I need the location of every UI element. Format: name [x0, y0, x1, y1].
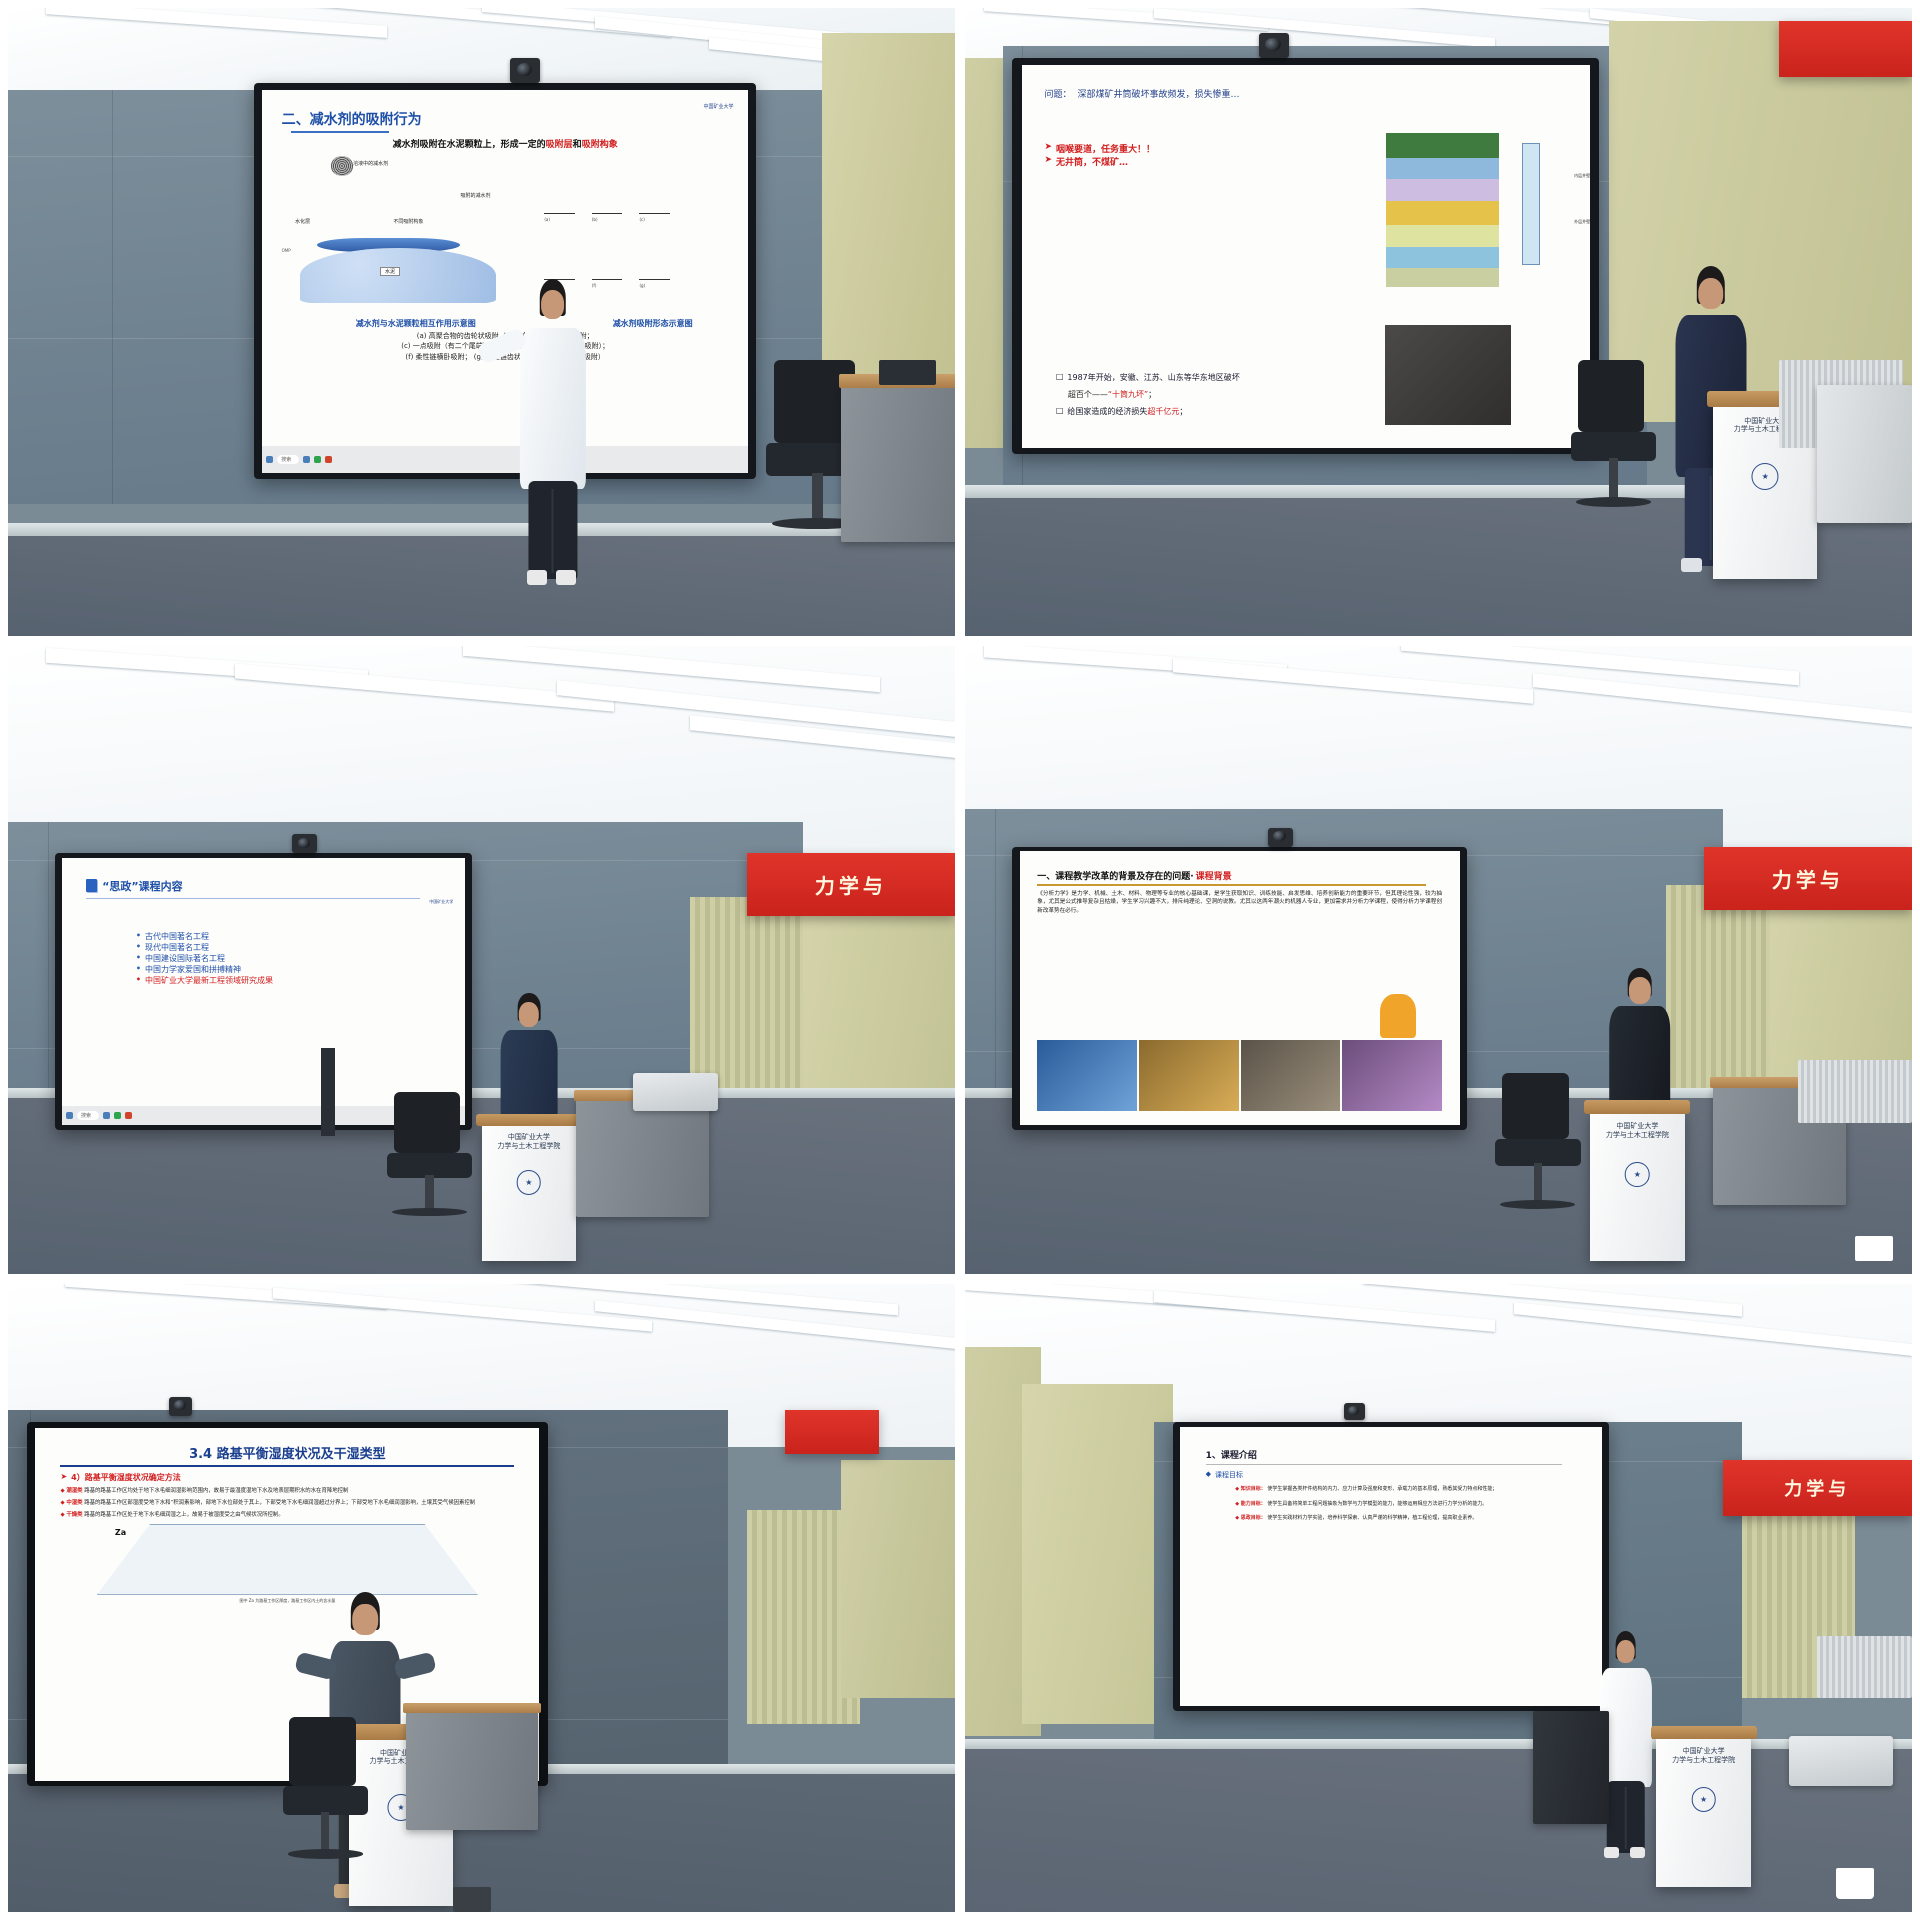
torso: [519, 328, 585, 490]
start-icon[interactable]: [66, 1112, 73, 1119]
red-banner: 力学与: [1723, 1460, 1912, 1517]
camera-icon: [1259, 33, 1289, 58]
beige-wall: [841, 1460, 955, 1699]
display-screen: “思政”课程内容 中国矿业大学 • 古代中国著名工程 • 现代中国著名工程: [62, 858, 465, 1126]
wall-display-6[interactable]: 1、课程介绍 ◆ 课程目标 ◆ 知识目标： 使学生掌握各类杆件结构的内力、应力计…: [1173, 1422, 1609, 1711]
red-banner: [1779, 21, 1912, 78]
shoe: [1630, 1847, 1646, 1858]
camera-icon: [1344, 1403, 1365, 1419]
list-item: ◆ 能力目标： 使学生具备将简单工程问题抽象为数学与力学模型的能力，能够运用相应…: [1235, 1501, 1576, 1509]
microphone-stand: [321, 1048, 335, 1136]
university-logo: 中国矿业大学: [429, 900, 453, 904]
legs: [528, 481, 577, 579]
photo-5: 3.4 路基平衡湿度状况及干湿类型 ➤ 4）路基平衡湿度状况确定方法 ◆ 潮湿类…: [8, 1284, 955, 1912]
lectern: 中国矿业大学力学与土木工程学院 ★: [482, 1123, 577, 1261]
taskbar-icon[interactable]: [114, 1112, 121, 1119]
square-bullet: □ 1987年开始，安徽、江苏、山东等华东地区破坏: [1056, 372, 1352, 383]
bullet-dot: •: [136, 953, 141, 962]
legs: [1606, 1781, 1645, 1854]
display-screen: 1、课程介绍 ◆ 课程目标 ◆ 知识目标： 使学生掌握各类杆件结构的内力、应力计…: [1180, 1427, 1602, 1707]
university-emblem: ★: [1625, 1162, 1650, 1187]
arrow-icon: ➤: [60, 1472, 67, 1481]
mascot-icon: [1380, 994, 1415, 1038]
office-chair: [283, 1717, 368, 1874]
label-outer-wall: 外层井壁: [1574, 219, 1590, 225]
red-banner: [785, 1410, 880, 1454]
paper-cup: [1855, 1236, 1893, 1261]
university-emblem: ★: [1752, 463, 1779, 490]
diagram-label: Za: [115, 1528, 126, 1537]
university-emblem: ★: [517, 1170, 542, 1195]
thumbnail: [1342, 1040, 1442, 1111]
diamond-icon: ◆: [1235, 1515, 1239, 1521]
equipment-cabinet: [1533, 1711, 1609, 1824]
display-screen: 二、减水剂的吸附行为 中国矿业大学 减水剂吸附在水泥颗粒上，形成一定的吸附层和吸…: [262, 90, 748, 473]
slide-paragraph: 《分析力学》是力学、机械、土木、材料、物理等专业的核心基础课，是学生获取知识、训…: [1037, 890, 1442, 916]
lectern: 中国矿业大学力学与土木工程学院 ★: [1590, 1111, 1685, 1262]
list-item: • 古代中国著名工程: [136, 931, 441, 942]
baseboard: [965, 1739, 1912, 1749]
office-chair: [387, 1092, 472, 1230]
slide-6: 1、课程介绍 ◆ 课程目标 ◆ 知识目标： 使学生掌握各类杆件结构的内力、应力计…: [1180, 1427, 1602, 1707]
presenter: [519, 284, 585, 573]
slide-title: 3.4 路基平衡湿度状况及干湿类型: [60, 1443, 514, 1462]
bullet-dot: •: [136, 942, 141, 951]
diamond-icon: ◆: [60, 1512, 64, 1518]
head: [1629, 977, 1651, 1004]
head: [541, 290, 565, 319]
equipment-cabinet: [576, 1098, 709, 1217]
wall-display-1[interactable]: 二、减水剂的吸附行为 中国矿业大学 减水剂吸附在水泥颗粒上，形成一定的吸附层和吸…: [254, 83, 756, 479]
wall-radiator: [1817, 1636, 1912, 1699]
camera-icon: [510, 58, 540, 83]
square-icon: □: [1056, 372, 1064, 381]
lectern: 中国矿业大学力学与土木工程学院 ★: [1656, 1736, 1751, 1887]
equipment-cabinet: [841, 385, 955, 542]
microphone-stand: [879, 360, 936, 385]
photo-collage: 二、减水剂的吸附行为 中国矿业大学 减水剂吸附在水泥颗粒上，形成一定的吸附层和吸…: [0, 0, 1920, 1920]
projector: [633, 1073, 718, 1111]
slide-subtitle: ◆ 课程目标: [1206, 1470, 1577, 1480]
slide-title: 1、课程介绍: [1206, 1448, 1577, 1461]
bullet-dot: •: [136, 975, 141, 984]
section-heading: ➤ 4）路基平衡湿度状况确定方法: [60, 1472, 514, 1483]
head: [353, 1604, 379, 1635]
red-banner: 力学与: [1704, 847, 1912, 910]
lectern-label: 中国矿业大学力学与土木工程学院: [1606, 1123, 1669, 1141]
taskbar-icon[interactable]: [125, 1112, 132, 1119]
projector: [1789, 1736, 1893, 1786]
label-hydration: 水化层: [295, 218, 310, 225]
list-item: • 中国力学家爱国和拼搏精神: [136, 964, 441, 975]
side-desk: [1817, 385, 1912, 523]
photo-3: “思政”课程内容 中国矿业大学 • 古代中国著名工程 • 现代中国著名工程: [8, 646, 955, 1274]
paper-cup: [1836, 1868, 1874, 1899]
list-item: • 中国建设国际著名工程: [136, 953, 441, 964]
roadbed-diagram: Za: [60, 1524, 514, 1595]
diamond-icon: ◆: [60, 1500, 64, 1506]
list-item: • 中国矿业大学最新工程领域研究成果: [136, 975, 441, 986]
slide-subtitle: 减水剂吸附在水泥颗粒上，形成一定的吸附层和吸附构象: [282, 137, 729, 150]
slide-title-highlight: 课程背景: [1196, 869, 1232, 882]
photo-6: 1、课程介绍 ◆ 课程目标 ◆ 知识目标： 使学生掌握各类杆件结构的内力、应力计…: [965, 1284, 1912, 1912]
square-icon: □: [1056, 406, 1064, 415]
beige-wall: [1022, 1384, 1174, 1723]
slide-4: 一、课程教学改革的背景及存在的问题· 课程背景 《分析力学》是力学、机械、土木、…: [1020, 851, 1460, 1125]
wall-radiator: [1798, 1060, 1912, 1123]
label-inner-wall: 内层井壁: [1574, 173, 1590, 179]
question-line: 问题： 深部煤矿井筒破坏事故频发，损失惨重…: [1044, 87, 1567, 100]
wall-display-2[interactable]: 问题： 深部煤矿井筒破坏事故频发，损失惨重… ➤ 咽喉要道，任务重大！！ ➤ 无…: [1012, 58, 1599, 454]
search-box[interactable]: 搜索: [77, 1111, 99, 1120]
taskbar-icon[interactable]: [303, 456, 310, 463]
shoe: [527, 570, 547, 584]
red-banner: 力学与: [747, 853, 955, 916]
thumbnail: [1241, 1040, 1341, 1111]
thumbnail: [1037, 1040, 1137, 1111]
diamond-icon: ◆: [1206, 1470, 1211, 1480]
office-chair: [1495, 1073, 1580, 1224]
lectern-label: 中国矿业大学力学与土木工程学院: [1672, 1748, 1735, 1766]
wall-display-3[interactable]: “思政”课程内容 中国矿业大学 • 古代中国著名工程 • 现代中国著名工程: [55, 853, 472, 1129]
list-item: ◆ 中湿类 路基的路基工作区部湿度受地下水和“积润素影响，部地下水位部处于其上，…: [60, 1499, 514, 1507]
damage-photo: [1385, 325, 1510, 425]
camera-icon: [292, 834, 317, 853]
wall-display-4[interactable]: 一、课程教学改革的背景及存在的问题· 课程背景 《分析力学》是力学、机械、土木、…: [1012, 847, 1467, 1130]
diamond-icon: ◆: [1235, 1486, 1239, 1492]
label-conformations: 不同吸附构象: [393, 218, 423, 225]
photo-1: 二、减水剂的吸附行为 中国矿业大学 减水剂吸附在水泥颗粒上，形成一定的吸附层和吸…: [8, 8, 955, 636]
slide-title: 一、课程教学改革的背景及存在的问题·: [1037, 869, 1193, 882]
camera-icon: [1268, 828, 1293, 847]
equipment-cabinet: [406, 1711, 539, 1830]
display-screen: 一、课程教学改革的背景及存在的问题· 课程背景 《分析力学》是力学、机械、土木、…: [1020, 851, 1460, 1125]
list-item: ◆ 知识目标： 使学生掌握各类杆件结构的内力、应力计算及强度和变形、承载力的基本…: [1235, 1486, 1576, 1494]
head: [1698, 278, 1724, 309]
diagram-caption: 图中 Za 为路基工作区厚度，路基工作区内土的含水量: [60, 1598, 514, 1604]
slide-title: 二、减水剂的吸附行为: [282, 109, 422, 129]
square-bullet-cont: 超百个——“十筒九坏”；: [1068, 389, 1352, 400]
photo-2: 问题： 深部煤矿井筒破坏事故频发，损失惨重… ➤ 咽喉要道，任务重大！！ ➤ 无…: [965, 8, 1912, 636]
photo-strip: [1037, 1040, 1442, 1111]
square-bullet: □ 给国家造成的经济损失超千亿元；: [1056, 406, 1352, 417]
head: [1616, 1640, 1635, 1663]
bag: [453, 1887, 491, 1912]
diamond-icon: ◆: [60, 1488, 64, 1494]
floor: [965, 1749, 1912, 1912]
arrow-icon: ➤: [1044, 155, 1052, 165]
thumbnail: [1139, 1040, 1239, 1111]
label-solution: 溶液中的减水剂: [353, 160, 388, 167]
start-icon[interactable]: [266, 456, 273, 463]
shoe: [1681, 558, 1702, 572]
photo-4: 一、课程教学改革的背景及存在的问题· 课程背景 《分析力学》是力学、机械、土木、…: [965, 646, 1912, 1274]
slide-2: 问题： 深部煤矿井筒破坏事故频发，损失惨重… ➤ 咽喉要道，任务重大！！ ➤ 无…: [1022, 65, 1590, 448]
label-cement: 水泥: [380, 267, 400, 276]
head: [519, 1002, 539, 1027]
display-screen: 问题： 深部煤矿井筒破坏事故频发，损失惨重… ➤ 咽喉要道，任务重大！！ ➤ 无…: [1022, 65, 1590, 448]
label-adsorbed: 吸附的减水剂: [460, 192, 490, 199]
caption-right: 减水剂吸附形态示意图: [577, 318, 729, 329]
caption-left: 减水剂与水泥颗粒相互作用示意图: [282, 318, 550, 329]
camera-icon: [169, 1397, 192, 1416]
list-item: • 现代中国著名工程: [136, 942, 441, 953]
arrow-icon: ➤: [1044, 142, 1052, 152]
adsorption-diagram: 溶液中的减水剂 吸附的减水剂 水化层 不同吸附构象 OMP 水泥 (a): [282, 153, 729, 316]
diamond-icon: ◆: [1235, 1501, 1239, 1507]
taskbar-icon[interactable]: [314, 456, 321, 463]
university-emblem: ★: [1691, 1787, 1716, 1812]
office-chair: [1571, 360, 1656, 523]
shoe: [556, 570, 576, 584]
taskbar-icon[interactable]: [103, 1112, 110, 1119]
slide-title: “思政”课程内容: [102, 878, 182, 894]
list-item: ◆ 干燥类 路基的路基工作区处于地下水毛细润湿之上，故易于被湿度受之由气候状况所…: [60, 1511, 514, 1519]
slide-1: 二、减水剂的吸附行为 中国矿业大学 减水剂吸附在水泥颗粒上，形成一定的吸附层和吸…: [262, 90, 748, 473]
taskbar-icon[interactable]: [325, 456, 332, 463]
shoe: [1604, 1847, 1620, 1858]
lectern-label: 中国矿业大学力学与土木工程学院: [497, 1134, 560, 1152]
list-item: ◆ 思政目标： 使学生实践材料力学实验，培养科学探索、认真严谨的科学精神，植工程…: [1235, 1515, 1576, 1523]
windows-taskbar[interactable]: 搜索: [262, 446, 748, 473]
shaft-stratigraphy-diagram: 内层井壁 外层井壁: [1386, 133, 1500, 286]
slide-3: “思政”课程内容 中国矿业大学 • 古代中国著名工程 • 现代中国著名工程: [62, 858, 465, 1126]
university-logo: 中国矿业大学: [704, 105, 734, 111]
list-item: ◆ 潮湿类 路基的路基工作区均处于地下水毛细润湿影响范围内，故易于最湿度湿地下水…: [60, 1487, 514, 1495]
bullet-dot: •: [136, 931, 141, 940]
label-omp: OMP: [282, 248, 291, 253]
bullet-dot: •: [136, 964, 141, 973]
search-box[interactable]: 搜索: [277, 455, 299, 464]
book-icon: [86, 879, 97, 892]
